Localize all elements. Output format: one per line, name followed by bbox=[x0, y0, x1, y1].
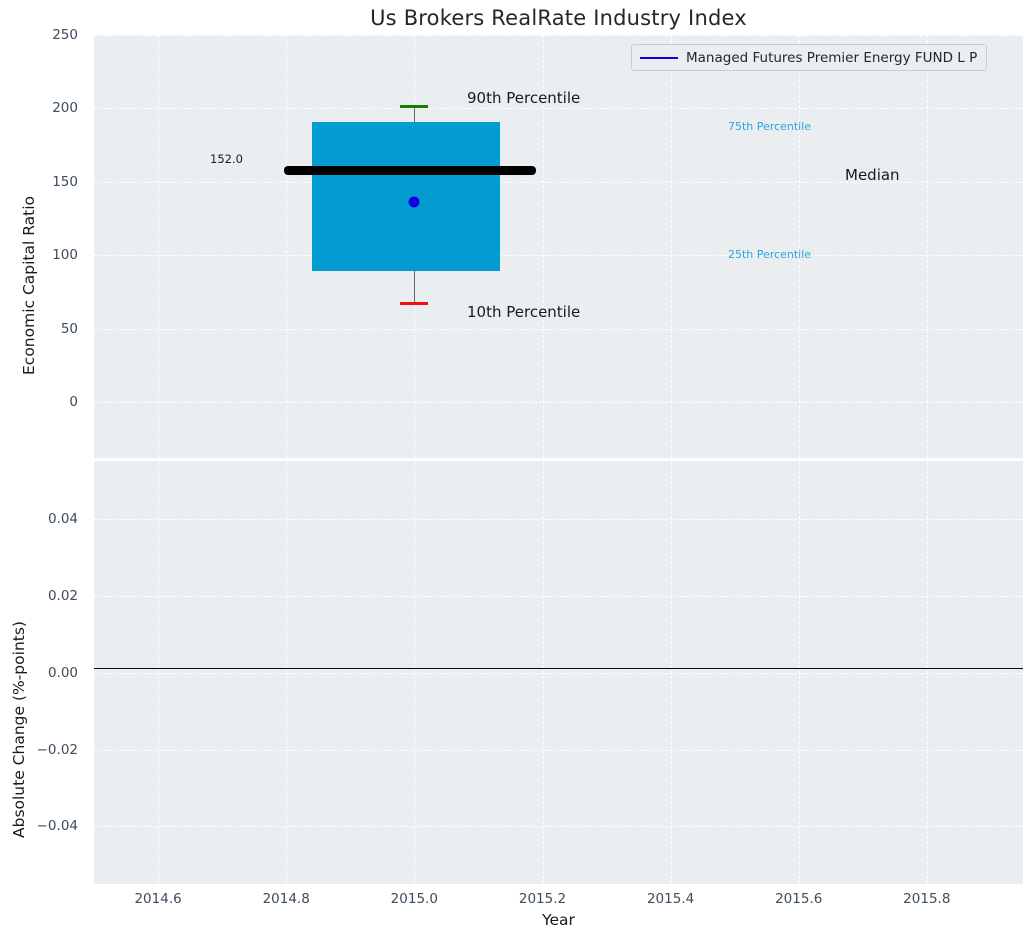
xtick-2015-4: 2015.4 bbox=[647, 891, 694, 907]
annotation-10th-percentile: 10th Percentile bbox=[467, 303, 580, 321]
ytick-top-50: 50 bbox=[0, 321, 78, 337]
xtick-2015-8: 2015.8 bbox=[903, 891, 950, 907]
annotation-90th-percentile: 90th Percentile bbox=[467, 89, 580, 107]
zero-reference-line bbox=[94, 668, 1023, 669]
gridline-x-2015-4-b bbox=[671, 461, 672, 884]
gridline-x-2015-8 bbox=[927, 35, 928, 458]
ytick-top-100: 100 bbox=[0, 247, 78, 263]
panel-bottom-plot-area bbox=[94, 461, 1023, 884]
gridline-y-0 bbox=[94, 402, 1023, 403]
legend-item-label: Managed Futures Premier Energy FUND L P bbox=[686, 50, 977, 66]
gridline-y-50 bbox=[94, 329, 1023, 330]
panel-absolute-change bbox=[94, 461, 1023, 884]
panel-economic-capital-ratio: 152.0 90th Percentile Median 10th Percen… bbox=[94, 35, 1023, 458]
median-bar bbox=[284, 166, 536, 175]
gridline-y-neg-0-04 bbox=[94, 826, 1023, 827]
ytick-top-150: 150 bbox=[0, 174, 78, 190]
gridline-x-2015-6-b bbox=[799, 461, 800, 884]
p10-cap-icon bbox=[400, 302, 428, 305]
gridline-x-2014-8-b bbox=[286, 461, 287, 884]
xtick-2014-6: 2014.6 bbox=[134, 891, 181, 907]
chart-title: Us Brokers RealRate Industry Index bbox=[94, 6, 1023, 30]
ytick-bottom-0-04: 0.04 bbox=[0, 511, 78, 527]
gridline-x-2015-8-b bbox=[927, 461, 928, 884]
series-marker-managed-futures[interactable] bbox=[409, 196, 420, 207]
gridline-x-2015-0-b bbox=[414, 461, 415, 884]
xaxis-label: Year bbox=[94, 911, 1023, 929]
yaxis-label-bottom: Absolute Change (%-points) bbox=[10, 621, 28, 838]
gridline-y-0-02 bbox=[94, 596, 1023, 597]
annotation-median-value: 152.0 bbox=[210, 152, 243, 166]
annotation-25th-percentile: 25th Percentile bbox=[728, 248, 811, 261]
panel-top-plot-area: 152.0 90th Percentile Median 10th Percen… bbox=[94, 35, 1023, 458]
gridline-y-0-00 bbox=[94, 673, 1023, 674]
legend-line-icon bbox=[640, 57, 678, 59]
gridline-x-2014-6-b bbox=[158, 461, 159, 884]
box-interquartile-range bbox=[312, 122, 500, 272]
p90-cap-icon bbox=[400, 105, 428, 108]
gridline-x-2014-8 bbox=[286, 35, 287, 458]
gridline-y-100 bbox=[94, 255, 1023, 256]
ytick-top-200: 200 bbox=[0, 100, 78, 116]
xtick-2015-6: 2015.6 bbox=[775, 891, 822, 907]
gridline-y-0-04 bbox=[94, 519, 1023, 520]
xtick-2014-8: 2014.8 bbox=[263, 891, 310, 907]
ytick-top-250: 250 bbox=[0, 27, 78, 43]
gridline-y-200 bbox=[94, 108, 1023, 109]
ytick-bottom-0-02: 0.02 bbox=[0, 588, 78, 604]
gridline-x-2015-6 bbox=[799, 35, 800, 458]
chart-legend[interactable]: Managed Futures Premier Energy FUND L P bbox=[631, 44, 987, 71]
gridline-y-neg-0-02 bbox=[94, 750, 1023, 751]
yaxis-label-top: Economic Capital Ratio bbox=[20, 196, 38, 375]
xtick-2015-2: 2015.2 bbox=[519, 891, 566, 907]
gridline-x-2015-2-b bbox=[543, 461, 544, 884]
xtick-2015-0: 2015.0 bbox=[391, 891, 438, 907]
annotation-median: Median bbox=[845, 166, 900, 184]
ytick-top-0: 0 bbox=[0, 394, 78, 410]
chart-figure: Us Brokers RealRate Industry Index bbox=[0, 0, 1034, 942]
annotation-75th-percentile: 75th Percentile bbox=[728, 120, 811, 133]
gridline-x-2015-4 bbox=[671, 35, 672, 458]
gridline-y-250 bbox=[94, 35, 1023, 36]
gridline-x-2014-6 bbox=[158, 35, 159, 458]
